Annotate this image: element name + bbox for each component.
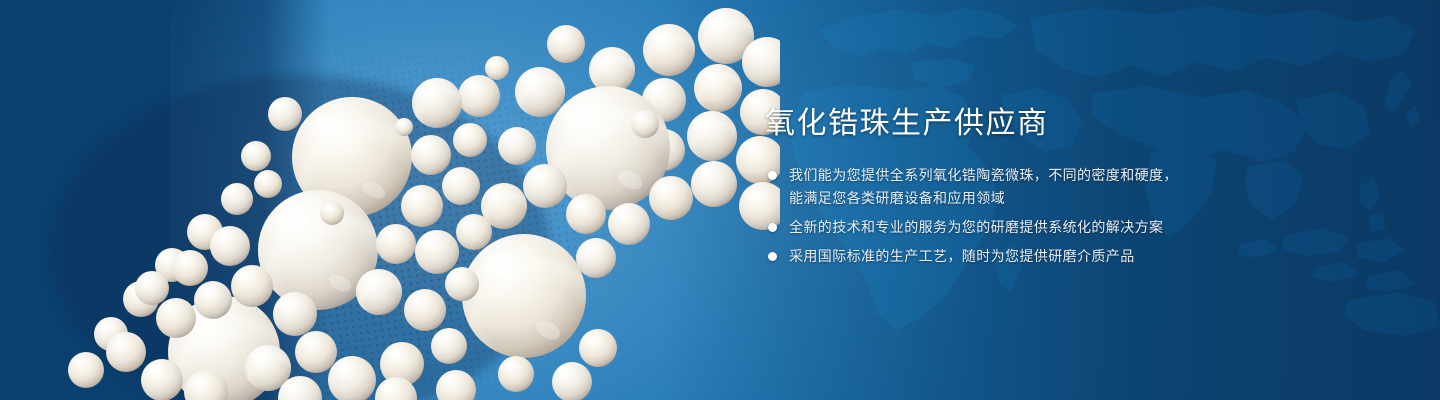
- list-item: 我们能为您提供全系列氧化锆陶瓷微珠，不同的密度和硬度， 能满足您各类研磨设备和应…: [765, 164, 1385, 210]
- halftone-texture: [11, 0, 788, 400]
- feature-list: 我们能为您提供全系列氧化锆陶瓷微珠，不同的密度和硬度， 能满足您各类研磨设备和应…: [765, 164, 1385, 268]
- bullet-dot-icon: [768, 252, 777, 261]
- list-item-text: 采用国际标准的生产工艺，随时为您提供研磨介质产品: [789, 245, 1385, 268]
- list-item: 采用国际标准的生产工艺，随时为您提供研磨介质产品: [765, 245, 1385, 268]
- list-item: 全新的技术和专业的服务为您的研磨提供系统化的解决方案: [765, 216, 1385, 239]
- bullet-dot-icon: [768, 223, 777, 232]
- banner-copy: 氧化锆珠生产供应商 我们能为您提供全系列氧化锆陶瓷微珠，不同的密度和硬度， 能满…: [765, 104, 1385, 274]
- bullet-dot-icon: [768, 171, 777, 180]
- list-item-text: 全新的技术和专业的服务为您的研磨提供系统化的解决方案: [789, 216, 1385, 239]
- hero-banner: 氧化锆珠生产供应商 我们能为您提供全系列氧化锆陶瓷微珠，不同的密度和硬度， 能满…: [0, 0, 1440, 400]
- list-item-text: 我们能为您提供全系列氧化锆陶瓷微珠，不同的密度和硬度， 能满足您各类研磨设备和应…: [789, 164, 1385, 210]
- page-title: 氧化锆珠生产供应商: [765, 104, 1385, 144]
